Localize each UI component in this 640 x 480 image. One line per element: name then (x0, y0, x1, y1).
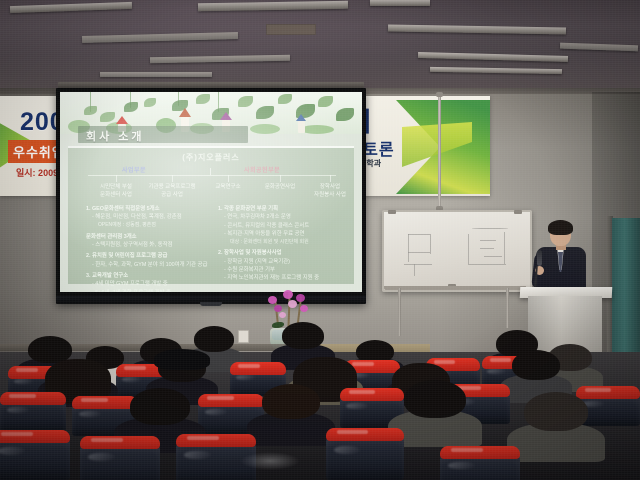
person-head (404, 380, 466, 418)
auditorium-seat[interactable] (440, 446, 520, 480)
slide-subtitle: (주)지오플러스 (68, 152, 354, 163)
person-head (524, 392, 588, 431)
slide-bullet: - 콘서트, 뮤지컬외 각종 클래스 콘서트 (218, 222, 346, 230)
slide-bullet: 1. GEO문화센터 직접운영 5개소 (86, 205, 214, 213)
org-node: 기관용 교육프로그램공급 사업 (144, 183, 200, 200)
org-node: 문화공연사업 (252, 183, 308, 191)
wall-outlet (238, 330, 249, 343)
slide-bullet: - 한자, 수학, 과학, GYM 분야 외 100여개 기관 공급 (86, 261, 214, 269)
ceiling-lamp (100, 72, 212, 77)
slide-bullet: - 5~6세, 7세 과학 프로그램 개발 중 (86, 289, 214, 292)
person-cap (154, 349, 210, 369)
slide-left-column: 1. GEO문화센터 직접운영 5개소- 해운점, 미산점, 다산점, 목계점,… (86, 202, 214, 292)
slide-body: (주)지오플러스 사업부문 사회공헌부문 시민단체 부설문화센터 사업 기관용 … (68, 148, 354, 284)
presentation-room-photo: 200 우수취업 일시: 2009. 수회 공전략토론 대학교 환경공학과 (0, 0, 640, 480)
org-connector-vertical (210, 168, 211, 175)
projection-screen: 회사 소개 (주)지오플러스 사업부문 사회공헌부문 시민단체 부설문화센터 사… (60, 92, 362, 292)
slide-bullet: 2. 장학사업 및 자원봉사사업 (218, 249, 346, 257)
org-node: 장학사업자원봉사 사업 (302, 183, 358, 200)
audience-member (524, 392, 588, 450)
banner-pole (438, 94, 441, 212)
slide-bullet: OPEN예정 : 성동점, 평촌점 (86, 222, 214, 230)
slide-bullet: - 연극, 차쿠김마차 2개소 운영 (218, 213, 346, 221)
ceiling-light-tint (0, 0, 640, 92)
auditorium-seat[interactable] (326, 428, 404, 480)
presentation-slide: 회사 소개 (주)지오플러스 사업부문 사회공헌부문 시민단체 부설문화센터 사… (60, 92, 362, 292)
person-head (512, 350, 560, 380)
audience-member (262, 384, 320, 436)
slide-bullet: - 해운점, 미산점, 다산점, 목계점, 강촌점 (86, 213, 214, 221)
slide-bullet: - 스텍지원점, 상구역서점 外, 동작점 (86, 241, 214, 249)
slide-bullet: 문화센터 관리점 3개소 (86, 233, 214, 241)
door[interactable] (612, 218, 640, 358)
person-head (194, 326, 234, 352)
auditorium-seat[interactable] (0, 430, 70, 480)
ceiling-vent (266, 24, 316, 35)
audience-member (512, 350, 560, 394)
ceiling-lamp (370, 0, 430, 6)
slide-bullet: - 장학금 지원 (지역 교육기관) (218, 258, 346, 266)
banner-pole-cap-top (436, 92, 443, 97)
auditorium-seat[interactable] (80, 436, 160, 480)
person-head (130, 388, 190, 425)
audience-member (404, 380, 466, 436)
org-node: 교육연구소 (200, 183, 256, 191)
slide-title: 회사 소개 (86, 128, 145, 144)
slide-bullet: - 4세 미만 GYM 프로그램 개발 중 (86, 280, 214, 288)
org-connector-horizontal (88, 175, 336, 176)
slide-bullet: 2. 유치원 및 어린이집 프로그램 공급 (86, 252, 214, 260)
banner-date-text: 일시: 2009. (16, 166, 61, 179)
org-chart: 사업부문 사회공헌부문 시민단체 부설문화센터 사업 기관용 교육프로그램공급 … (78, 168, 344, 198)
screen-pull-handle (200, 302, 222, 306)
person-head (282, 322, 324, 349)
whiteboard-stand-leg (398, 288, 401, 336)
slide-bullet: 3. 교육개발 연구소 (86, 272, 214, 280)
whiteboard-tray (384, 286, 526, 290)
org-group-label: 사업부문 (122, 165, 146, 174)
person-head (262, 384, 320, 419)
whiteboard-stand-leg (506, 288, 509, 328)
slide-illustration-house (296, 114, 307, 133)
org-group-label: 사회공헌부문 (244, 165, 280, 174)
slide-bullet: - 지역 노인복지관외 재능 프로그램 지원 중 (218, 274, 346, 282)
slide-bullet: 1. 각종 문화공연 부문 기획 (218, 205, 346, 213)
auditorium-seat[interactable] (0, 392, 66, 432)
floor-reflection (240, 452, 300, 470)
slide-bullet: - 복지관·지역 아동을 위한 무료 공연 (218, 230, 346, 238)
microphone (537, 250, 542, 266)
whiteboard (382, 210, 532, 292)
slide-right-column: 1. 각종 문화공연 부문 기획- 연극, 차쿠김마차 2개소 운영- 콘서트,… (218, 202, 346, 283)
org-node: 시민단체 부설문화센터 사업 (88, 183, 144, 200)
slide-bullet: 대상 : 문화센터 회원 및 시민단체 회원 (218, 239, 346, 247)
slide-bullet: - 수원 문화복지관 기부 (218, 266, 346, 274)
speaker-hair (548, 220, 573, 235)
